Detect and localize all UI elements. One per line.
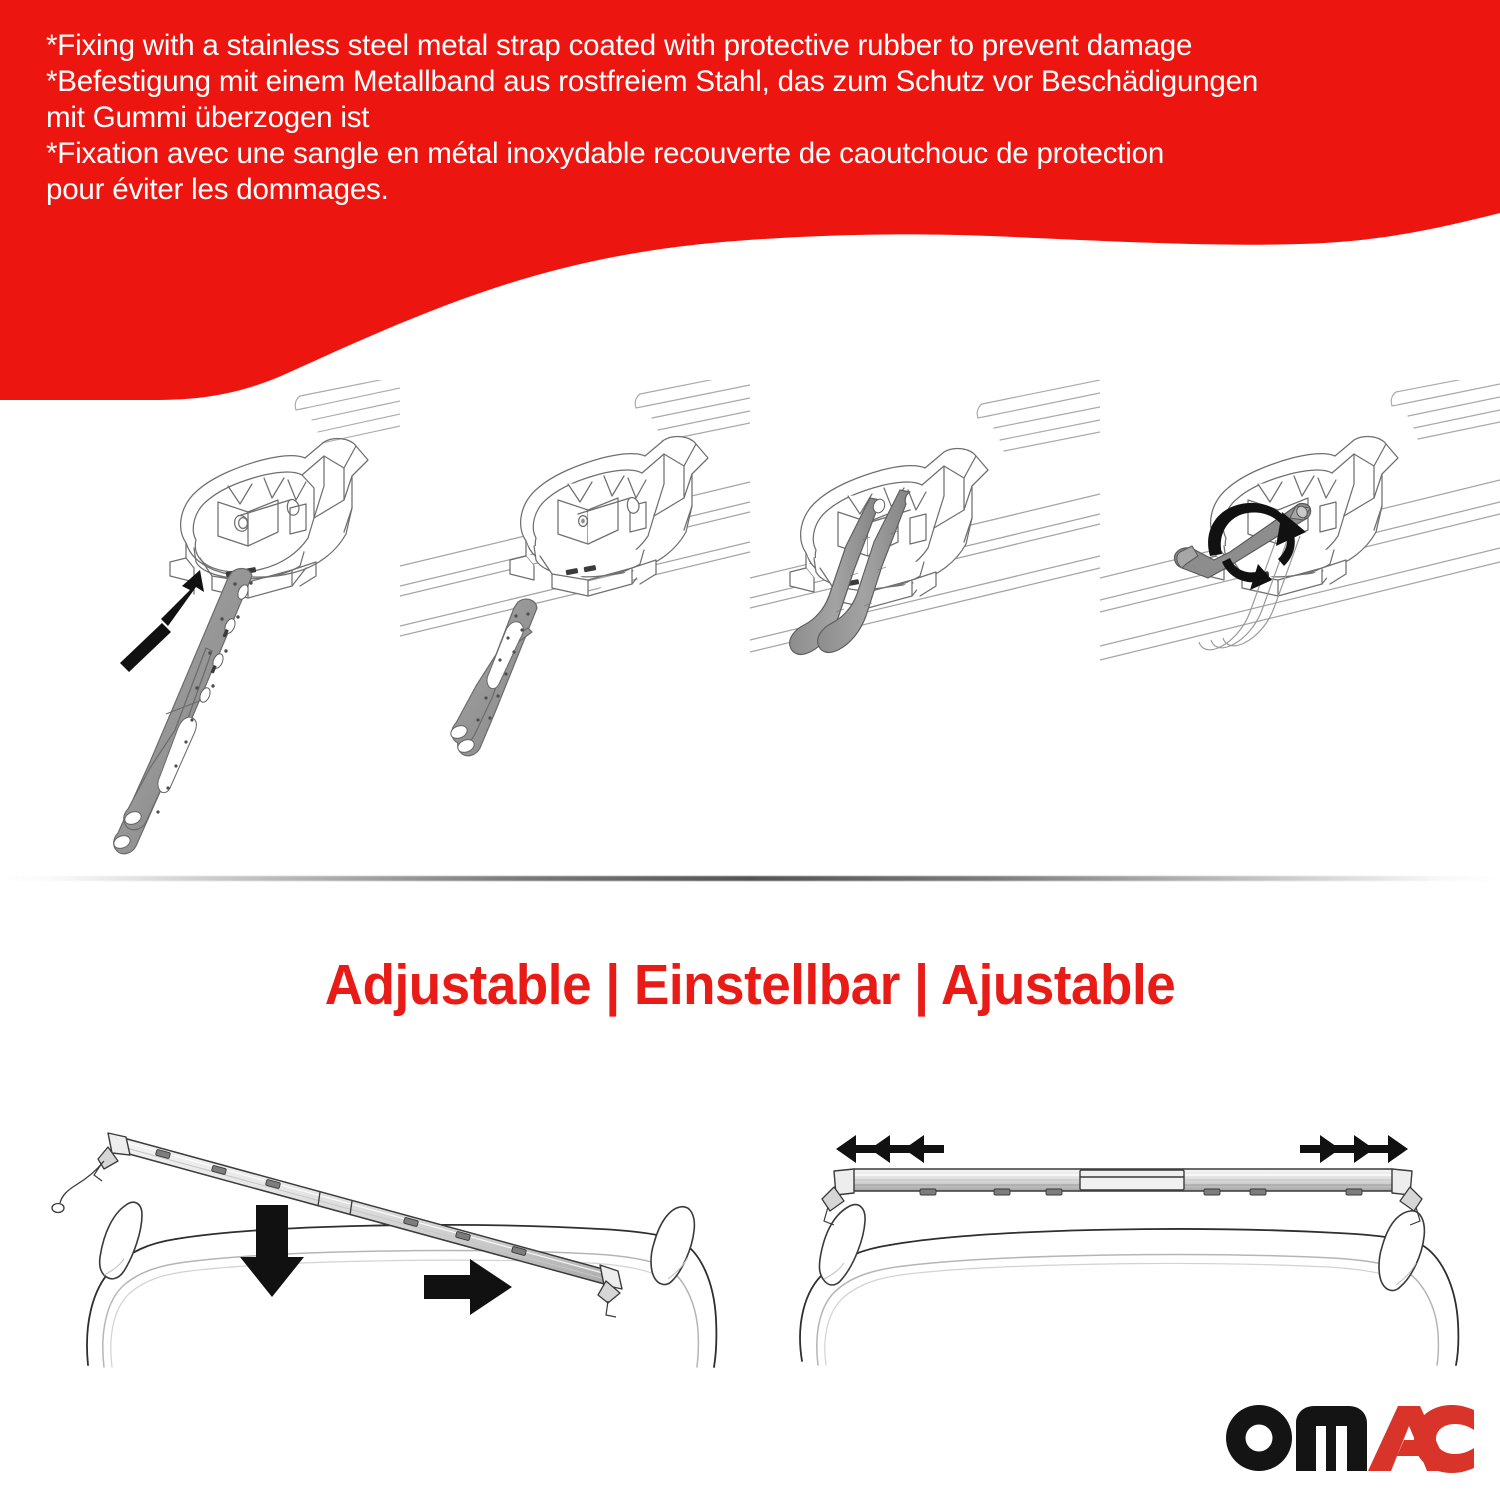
roof-rail-pair [819, 1205, 1424, 1291]
crossbar-profile [635, 380, 750, 441]
step-1-insert-strap [0, 380, 400, 860]
rubber-coated-metal-strap [449, 599, 537, 756]
infographic-page: *Fixing with a stainless steel metal str… [0, 0, 1500, 1500]
crossbar-profile [977, 380, 1100, 451]
step-3-wrap-strap [750, 380, 1100, 860]
right-arrow-icon [424, 1259, 512, 1315]
car-roof-front-view [800, 1229, 1458, 1365]
step-4-tighten-hex-key [1100, 380, 1500, 860]
car-roof-front-view [87, 1225, 716, 1367]
logo-letter-m [1296, 1406, 1367, 1471]
section-divider [0, 876, 1500, 888]
triple-left-arrow-icon [836, 1135, 944, 1163]
crossbar-profile [295, 380, 400, 443]
down-arrow-icon [240, 1205, 304, 1297]
header-line-2: *Befestigung mit einem Metallband aus ro… [46, 64, 1466, 100]
telescopic-crossbar [822, 1169, 1422, 1225]
header-line-4: *Fixation avec une sangle en métal inoxy… [46, 136, 1466, 172]
header-line-1: *Fixing with a stainless steel metal str… [46, 28, 1466, 64]
header-description-text: *Fixing with a stainless steel metal str… [46, 28, 1466, 208]
diagram-width-adjust [760, 1075, 1500, 1375]
header-line-3: mit Gummi überzogen ist [46, 100, 1466, 136]
diagram-height-angle-adjust [0, 1075, 760, 1375]
divider-gradient-bar [0, 876, 1500, 881]
crossbar [94, 1133, 622, 1317]
header-line-5: pour éviter les dommages. [46, 172, 1466, 208]
adjustable-diagrams-row [0, 1075, 1500, 1375]
roof-rack-foot [510, 437, 708, 596]
logo-letter-o [1226, 1405, 1292, 1471]
triple-right-arrow-icon [1300, 1135, 1408, 1163]
crossbar-profile [1391, 380, 1500, 439]
omac-logo [1222, 1398, 1474, 1474]
rubber-coated-metal-strap [112, 569, 253, 854]
adjustable-section-title: Adjustable | Einstellbar | Ajustable [53, 952, 1448, 1018]
measuring-lanyard [52, 1161, 104, 1213]
installation-steps-row [0, 380, 1500, 860]
step-2-place-on-rail [400, 380, 750, 860]
